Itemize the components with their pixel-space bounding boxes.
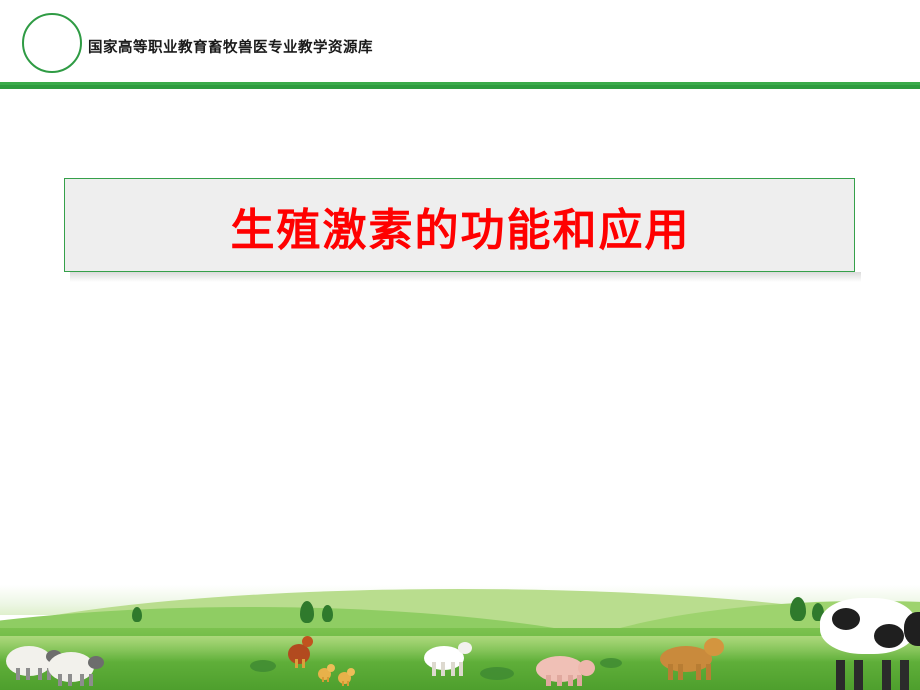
goat-leg	[441, 662, 445, 676]
shrub-icon	[480, 667, 514, 680]
sheep-figure	[48, 646, 108, 686]
dog-figure	[660, 636, 726, 680]
sheep-leg	[68, 674, 72, 686]
goat-head	[458, 642, 472, 654]
pig-leg	[546, 675, 551, 686]
cow-leg	[900, 660, 909, 690]
cow-spot	[874, 624, 904, 648]
shrub-icon	[250, 660, 276, 672]
cow-leg	[836, 660, 845, 690]
sheep-leg	[58, 674, 62, 686]
tree-icon	[132, 607, 142, 622]
chick-head	[347, 668, 355, 676]
dog-leg	[706, 664, 711, 680]
sheep-leg	[16, 668, 20, 680]
cow-body	[820, 598, 916, 654]
organization-title: 国家高等职业教育畜牧兽医专业教学资源库	[88, 36, 373, 57]
presentation-slide: 国家高等职业教育畜牧兽医专业教学资源库 生殖激素的功能和应用	[0, 0, 920, 690]
chicken-body	[288, 644, 310, 664]
slide-title: 生殖激素的功能和应用	[65, 179, 856, 273]
goat-figure	[424, 638, 476, 676]
pig-leg	[577, 675, 582, 686]
tree-icon	[300, 601, 314, 623]
goat-leg	[459, 662, 463, 676]
tree-icon	[790, 597, 806, 621]
cow-figure	[820, 590, 920, 690]
chick-leg	[322, 677, 324, 682]
cow-leg	[882, 660, 891, 690]
chicken-head	[302, 636, 313, 647]
cow-leg	[854, 660, 863, 690]
pig-head	[578, 660, 595, 676]
chick-figure	[318, 664, 338, 682]
title-box-shadow	[70, 272, 861, 282]
goat-leg	[432, 662, 436, 676]
sheep-leg	[26, 668, 30, 680]
pig-leg	[557, 675, 562, 686]
title-box: 生殖激素的功能和应用	[64, 178, 855, 272]
sheep-head	[88, 656, 104, 669]
shrub-icon	[600, 658, 622, 668]
slide-header: 国家高等职业教育畜牧兽医专业教学资源库	[0, 0, 920, 88]
dog-leg	[668, 664, 673, 680]
header-divider-highlight	[0, 82, 920, 85]
chick-leg	[347, 681, 349, 686]
chick-leg	[327, 677, 329, 682]
pig-leg	[568, 675, 573, 686]
sheep-leg	[89, 674, 93, 686]
tree-icon	[322, 605, 333, 622]
chicken-figure	[288, 636, 318, 668]
sheep-leg	[80, 674, 84, 686]
cow-spot	[832, 608, 860, 630]
goat-leg	[451, 662, 455, 676]
logo-ring	[22, 13, 82, 73]
chick-leg	[342, 681, 344, 686]
veterinary-cross-logo	[22, 13, 84, 75]
pasture-scene	[0, 585, 920, 690]
dog-leg	[696, 664, 701, 680]
pig-figure	[536, 648, 598, 686]
sheep-leg	[38, 668, 42, 680]
dog-leg	[678, 664, 683, 680]
chick-head	[327, 664, 335, 672]
chick-figure	[338, 668, 358, 686]
header-divider-rule	[0, 82, 920, 89]
dog-head	[704, 638, 724, 656]
chicken-leg	[302, 659, 305, 668]
chicken-leg	[295, 659, 298, 668]
